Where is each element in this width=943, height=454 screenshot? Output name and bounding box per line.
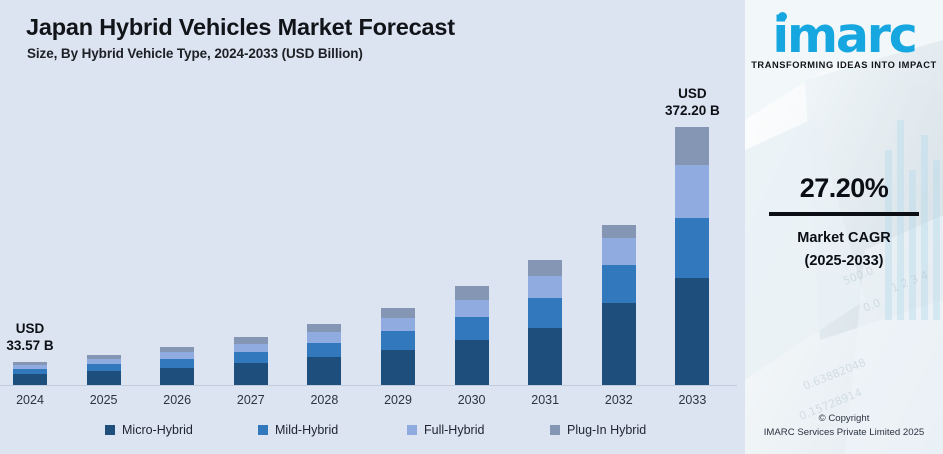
logo-text: imarc [772,7,915,64]
bar-2028[interactable] [307,324,341,385]
bar-segment-micro-hybrid [234,363,268,385]
bar-segment-full-hybrid [675,165,709,218]
chart-legend: Micro-HybridMild-HybridFull-HybridPlug-I… [0,421,737,445]
plot-area: USD33.57 BUSD372.20 B 202420252026202720… [0,0,745,454]
copyright-line2: IMARC Services Private Limited 2025 [745,426,943,440]
bar-segment-mild-hybrid [234,352,268,363]
bar-segment-micro-hybrid [675,278,709,385]
x-tick-2032: 2032 [584,393,654,407]
x-tick-2031: 2031 [510,393,580,407]
bar-segment-micro-hybrid [87,371,121,385]
bar-2031[interactable] [528,260,562,385]
bar-2032[interactable] [602,225,636,385]
legend-label: Full-Hybrid [424,423,484,437]
bar-2029[interactable] [381,308,415,385]
cagr-label-line1: Market CAGR [745,227,943,250]
bar-segment-plug-in-hybrid [455,286,489,299]
bar-2026[interactable] [160,347,194,385]
legend-item-plug-in-hybrid[interactable]: Plug-In Hybrid [550,423,646,437]
bar-segment-mild-hybrid [528,298,562,328]
legend-item-mild-hybrid[interactable]: Mild-Hybrid [258,423,338,437]
bar-value-label-line1: USD [637,85,747,102]
logo-wordmark: imarc [772,8,915,64]
bar-segment-plug-in-hybrid [602,225,636,237]
legend-label: Plug-In Hybrid [567,423,646,437]
bar-segment-plug-in-hybrid [381,308,415,318]
bar-segment-mild-hybrid [455,317,489,340]
x-tick-2030: 2030 [437,393,507,407]
bar-segment-mild-hybrid [675,218,709,278]
bar-segment-full-hybrid [234,344,268,352]
bar-segment-full-hybrid [602,238,636,266]
bar-value-label: USD33.57 B [0,320,85,354]
bar-value-label-line2: 372.20 B [637,102,747,119]
bar-segment-micro-hybrid [160,368,194,385]
bar-segment-mild-hybrid [381,331,415,349]
legend-item-micro-hybrid[interactable]: Micro-Hybrid [105,423,193,437]
bar-segment-plug-in-hybrid [528,260,562,277]
bar-value-label-line1: USD [0,320,85,337]
bar-segment-full-hybrid [455,300,489,317]
brand-panel: 500.0 0.0 1 2 3 4 0.63882048 0.15728914 … [745,0,943,454]
bar-segment-micro-hybrid [13,374,47,385]
bar-2033[interactable]: USD372.20 B [675,127,709,385]
bar-2024[interactable]: USD33.57 B [13,362,47,385]
legend-swatch-icon [407,425,417,435]
x-tick-2025: 2025 [69,393,139,407]
bar-value-label-line2: 33.57 B [0,337,85,354]
bar-segment-micro-hybrid [528,328,562,385]
bar-segment-mild-hybrid [87,364,121,371]
legend-item-full-hybrid[interactable]: Full-Hybrid [407,423,484,437]
x-tick-2024: 2024 [0,393,65,407]
bar-segment-plug-in-hybrid [307,324,341,332]
bar-value-label: USD372.20 B [637,85,747,119]
bar-segment-micro-hybrid [381,350,415,385]
chart-screenshot: Japan Hybrid Vehicles Market Forecast Si… [0,0,943,454]
bar-segment-mild-hybrid [307,343,341,357]
imarc-logo: imarc TRANSFORMING IDEAS INTO IMPACT [745,8,943,70]
x-tick-2027: 2027 [216,393,286,407]
x-axis-line [0,385,737,386]
cagr-label: Market CAGR (2025-2033) [745,227,943,273]
bar-2030[interactable] [455,286,489,385]
legend-swatch-icon [105,425,115,435]
bar-segment-full-hybrid [381,318,415,331]
copyright-line1: © Copyright [745,412,943,426]
x-tick-2029: 2029 [363,393,433,407]
bar-2025[interactable] [87,355,121,385]
bar-segment-plug-in-hybrid [675,127,709,165]
copyright-notice: © Copyright IMARC Services Private Limit… [745,412,943,440]
bar-segment-mild-hybrid [602,265,636,303]
x-tick-2033: 2033 [657,393,727,407]
bar-segment-micro-hybrid [455,340,489,385]
cagr-label-line2: (2025-2033) [745,250,943,273]
bar-segment-full-hybrid [528,276,562,298]
legend-label: Micro-Hybrid [122,423,193,437]
chart-panel: Japan Hybrid Vehicles Market Forecast Si… [0,0,745,454]
bar-2027[interactable] [234,337,268,385]
cagr-value: 27.20% [745,173,943,204]
legend-swatch-icon [258,425,268,435]
bar-segment-micro-hybrid [307,357,341,385]
legend-label: Mild-Hybrid [275,423,338,437]
bar-segment-micro-hybrid [602,303,636,385]
x-tick-2026: 2026 [142,393,212,407]
cagr-divider [769,212,919,216]
legend-swatch-icon [550,425,560,435]
x-tick-2028: 2028 [289,393,359,407]
bar-segment-full-hybrid [307,332,341,343]
bar-segment-mild-hybrid [160,359,194,368]
